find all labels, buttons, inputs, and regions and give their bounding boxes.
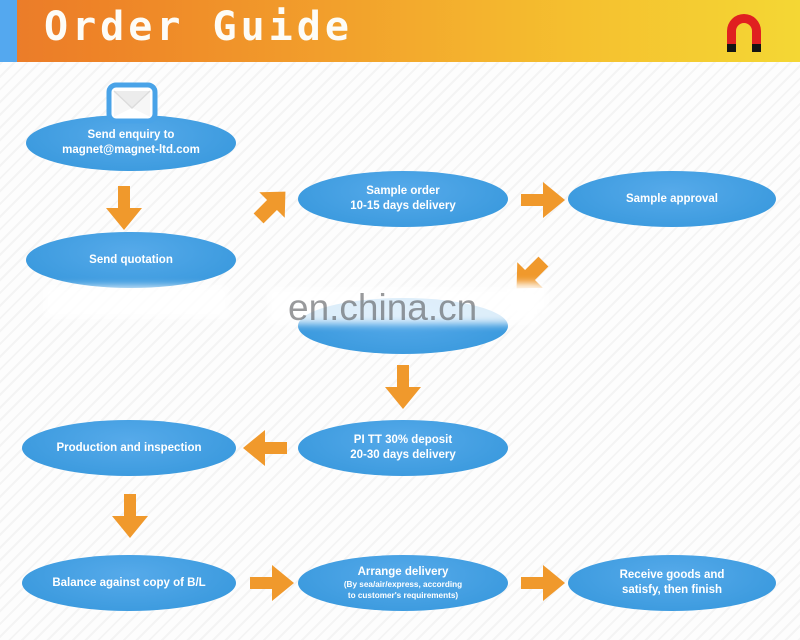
arrow-obscured-to-pi-tt	[383, 365, 423, 411]
blur-overlay-left	[44, 286, 229, 318]
node-line2: magnet@magnet-ltd.com	[62, 143, 200, 158]
flow-node-production-inspection[interactable]: Production and inspection	[22, 420, 236, 476]
arrow-pi-tt-to-production	[243, 428, 289, 468]
arrow-arrange-to-receive	[521, 563, 567, 603]
node-line1: Balance against copy of B/L	[52, 576, 205, 591]
watermark-text: en.china.cn	[288, 287, 477, 329]
arrow-production-to-balance	[110, 494, 150, 540]
arrow-enquiry-to-quotation	[104, 186, 144, 232]
arrow-approval-to-obscured	[508, 253, 552, 297]
page-header: Order Guide	[0, 0, 800, 62]
node-line1: Send enquiry to	[88, 128, 175, 143]
arrow-quotation-to-sample-order	[250, 183, 294, 227]
node-sub-line1: (By sea/air/express, according	[344, 580, 462, 590]
flow-node-sample-order[interactable]: Sample order 10-15 days delivery	[298, 171, 508, 227]
node-line1: Send quotation	[89, 253, 173, 268]
node-line2: 10-15 days delivery	[350, 199, 456, 214]
page-title: Order Guide	[44, 4, 353, 50]
order-guide-page: Order Guide Send enquiry to magnet@magne…	[0, 0, 800, 640]
node-line1: Arrange delivery	[358, 565, 449, 580]
node-line1: Sample approval	[626, 192, 718, 207]
flow-node-sample-approval[interactable]: Sample approval	[568, 171, 776, 227]
header-blue-edge	[0, 0, 17, 62]
flow-node-quotation[interactable]: Send quotation	[26, 232, 236, 288]
envelope-icon	[99, 82, 165, 130]
flow-node-balance-bl[interactable]: Balance against copy of B/L	[22, 555, 236, 611]
arrow-balance-to-arrange	[250, 563, 296, 603]
node-line1: PI TT 30% deposit	[354, 433, 452, 448]
flow-node-arrange-delivery[interactable]: Arrange delivery (By sea/air/express, ac…	[298, 555, 508, 611]
node-line1: Sample order	[366, 184, 440, 199]
flow-node-receive-goods[interactable]: Receive goods and satisfy, then finish	[568, 555, 776, 611]
horseshoe-magnet-icon	[721, 10, 767, 52]
node-line1: Receive goods and	[620, 568, 725, 583]
node-line2: 20-30 days delivery	[350, 448, 456, 463]
node-line1: Production and inspection	[56, 441, 201, 456]
node-sub-line2: to customer's requirements)	[348, 591, 458, 601]
flow-node-pi-tt-deposit[interactable]: PI TT 30% deposit 20-30 days delivery	[298, 420, 508, 476]
arrow-sample-order-to-approval	[521, 180, 567, 220]
node-line2: satisfy, then finish	[622, 583, 722, 598]
